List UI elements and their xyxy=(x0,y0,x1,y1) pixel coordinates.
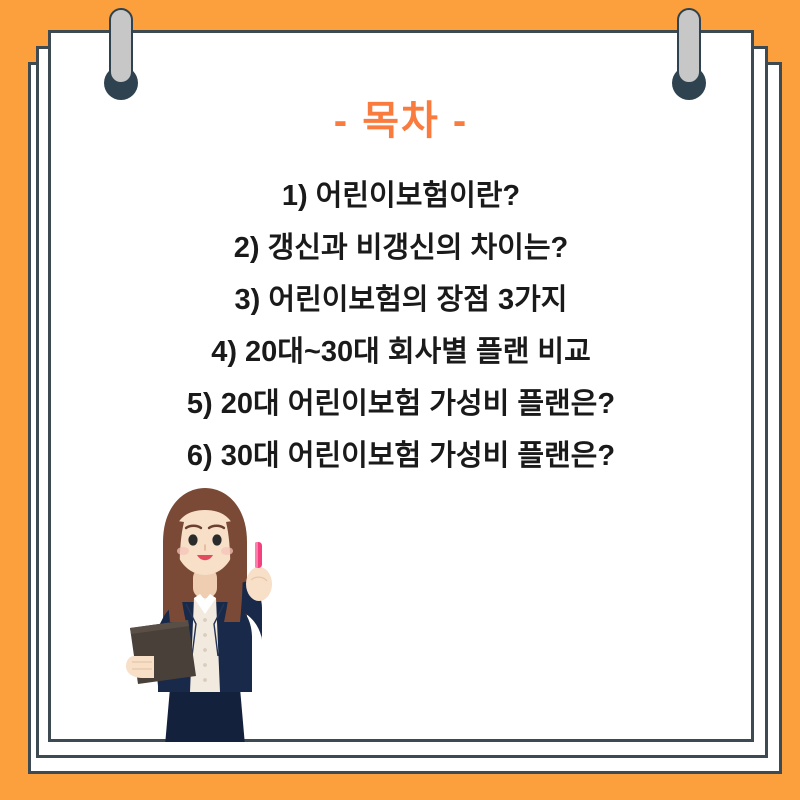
clip-bar-icon xyxy=(109,8,133,84)
hand-left xyxy=(126,656,154,678)
cheek-right xyxy=(221,547,233,555)
blouse-button xyxy=(203,633,207,637)
blouse-button xyxy=(203,663,207,667)
table-of-contents-list: 1) 어린이보험이란? 2) 갱신과 비갱신의 차이는? 3) 어린이보험의 장… xyxy=(48,170,754,482)
binder-clip-right xyxy=(672,8,706,100)
list-item: 5) 20대 어린이보험 가성비 플랜은? xyxy=(48,378,754,430)
skirt xyxy=(162,688,248,742)
list-item: 3) 어린이보험의 장점 3가지 xyxy=(48,274,754,326)
page-title: - 목차 - xyxy=(48,88,754,146)
list-item: 2) 갱신과 비갱신의 차이는? xyxy=(48,222,754,274)
cheek-left xyxy=(177,547,189,555)
list-item: 1) 어린이보험이란? xyxy=(48,170,754,222)
businesswoman-illustration xyxy=(108,480,308,742)
paper-content: - 목차 - 1) 어린이보험이란? 2) 갱신과 비갱신의 차이는? 3) 어… xyxy=(48,30,754,742)
pen-highlight xyxy=(255,542,258,568)
blouse-button xyxy=(203,648,207,652)
clip-bar-icon xyxy=(677,8,701,84)
hand-raised xyxy=(246,567,272,601)
list-item: 4) 20대~30대 회사별 플랜 비교 xyxy=(48,326,754,378)
binder-clip-left xyxy=(104,8,138,100)
poster-canvas: - 목차 - 1) 어린이보험이란? 2) 갱신과 비갱신의 차이는? 3) 어… xyxy=(0,0,800,800)
list-item: 6) 30대 어린이보험 가성비 플랜은? xyxy=(48,430,754,482)
eye-right xyxy=(212,534,221,545)
blouse-button xyxy=(203,618,207,622)
eye-left xyxy=(188,534,197,545)
blouse-button xyxy=(203,678,207,682)
